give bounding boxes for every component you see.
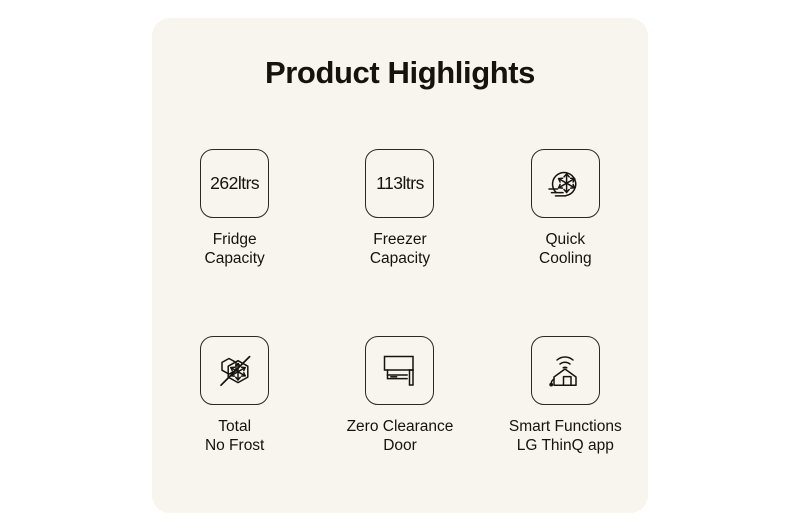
zero-clearance-door-badge: [365, 336, 434, 405]
highlight-item-fridge-capacity[interactable]: 262ltrs Fridge Capacity: [152, 149, 317, 268]
highlight-item-freezer-capacity[interactable]: 113ltrs Freezer Capacity: [317, 149, 482, 268]
smart-home-wifi-icon: [543, 349, 587, 393]
freezer-capacity-label: Freezer Capacity: [370, 230, 430, 268]
highlight-item-quick-cooling[interactable]: Quick Cooling: [483, 149, 648, 268]
fridge-capacity-value: 262ltrs: [210, 173, 259, 194]
zero-clearance-door-label: Zero Clearance Door: [347, 417, 454, 455]
snowflake-speed-icon: [543, 162, 587, 206]
fridge-capacity-label: Fridge Capacity: [205, 230, 265, 268]
highlight-item-zero-clearance-door[interactable]: Zero Clearance Door: [317, 336, 482, 455]
highlights-grid: 262ltrs Fridge Capacity 113ltrs Freezer …: [152, 149, 648, 455]
total-no-frost-badge: [200, 336, 269, 405]
freezer-capacity-value: 113ltrs: [376, 173, 424, 194]
product-highlights-card: Product Highlights 262ltrs Fridge Capaci…: [152, 18, 648, 513]
quick-cooling-badge: [531, 149, 600, 218]
highlight-item-total-no-frost[interactable]: Total No Frost: [152, 336, 317, 455]
highlight-item-smart-functions[interactable]: Smart Functions LG ThinQ app: [483, 336, 648, 455]
screenshot-root: Product Highlights 262ltrs Fridge Capaci…: [0, 0, 800, 531]
fridge-capacity-badge: 262ltrs: [200, 149, 269, 218]
smart-functions-label: Smart Functions LG ThinQ app: [509, 417, 622, 455]
quick-cooling-label: Quick Cooling: [539, 230, 592, 268]
no-frost-crystal-icon: [213, 349, 257, 393]
fridge-door-icon: [378, 349, 422, 393]
freezer-capacity-badge: 113ltrs: [365, 149, 434, 218]
total-no-frost-label: Total No Frost: [205, 417, 264, 455]
page-title: Product Highlights: [152, 54, 648, 92]
smart-functions-badge: [531, 336, 600, 405]
